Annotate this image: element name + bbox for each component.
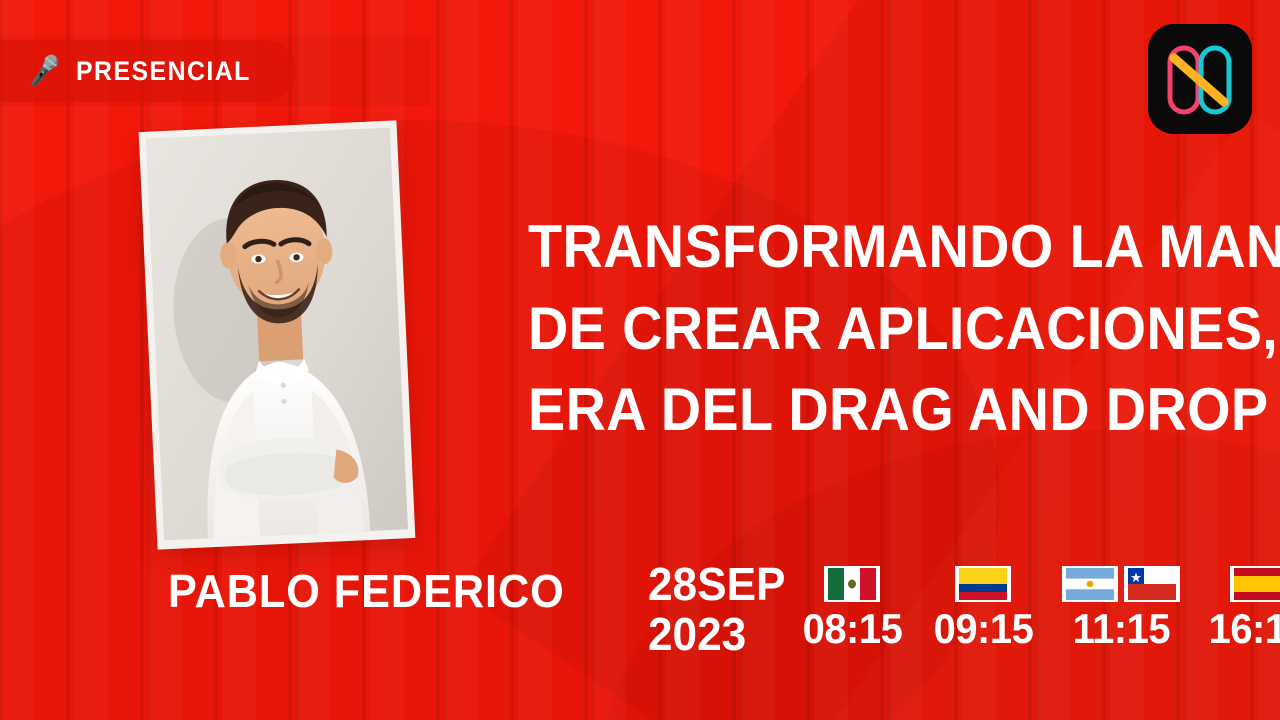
slot-flags [1230, 566, 1280, 602]
session-title: TRANSFORMANDO LA MANERA DE CREAR APLICAC… [528, 206, 1248, 451]
event-date: 28SEP 2023 [648, 560, 791, 659]
microphone-icon: 🎤 [26, 55, 63, 86]
slot-time: 11:15 [1072, 608, 1169, 650]
brand-logo [1148, 24, 1252, 134]
modality-badge: 🎤 PRESENCIAL [0, 40, 296, 102]
schedule-slot: 08:15 [800, 566, 905, 650]
flag-spain [1230, 566, 1280, 602]
event-date-day-month: 28SEP [648, 560, 785, 610]
schedule-slot: 16:15 [1206, 566, 1280, 650]
flag-argentina [1062, 566, 1118, 602]
flag-mexico [824, 566, 880, 602]
title-line-1: TRANSFORMANDO LA MANERA [528, 206, 1198, 288]
schedule-slot: 11:15 [1062, 566, 1180, 650]
title-line-2: DE CREAR APLICACIONES, LA [528, 288, 1198, 370]
slot-time: 08:15 [803, 608, 903, 650]
slot-time: 09:15 [934, 608, 1034, 650]
speaker-photo [146, 128, 408, 541]
slot-flags [955, 566, 1011, 602]
schedule-slot: 09:15 [931, 566, 1036, 650]
modality-badge-label: PRESENCIAL [76, 56, 251, 87]
title-line-3: ERA DEL DRAG AND DROP [528, 369, 1198, 451]
slot-time: 16:15 [1208, 608, 1280, 650]
logo-mark-icon [1148, 24, 1252, 134]
speaker-name: PABLO FEDERICO [168, 564, 565, 618]
schedule-row: 08:15 09:15 [800, 566, 1280, 650]
slot-flags [1062, 566, 1180, 602]
speaker-photo-frame [139, 120, 416, 549]
event-promo-poster: 🎤 PRESENCIAL [0, 0, 1280, 720]
avatar [146, 128, 408, 541]
flag-colombia [955, 566, 1011, 602]
flag-chile [1124, 566, 1180, 602]
event-date-year: 2023 [648, 610, 785, 660]
slot-flags [824, 566, 880, 602]
